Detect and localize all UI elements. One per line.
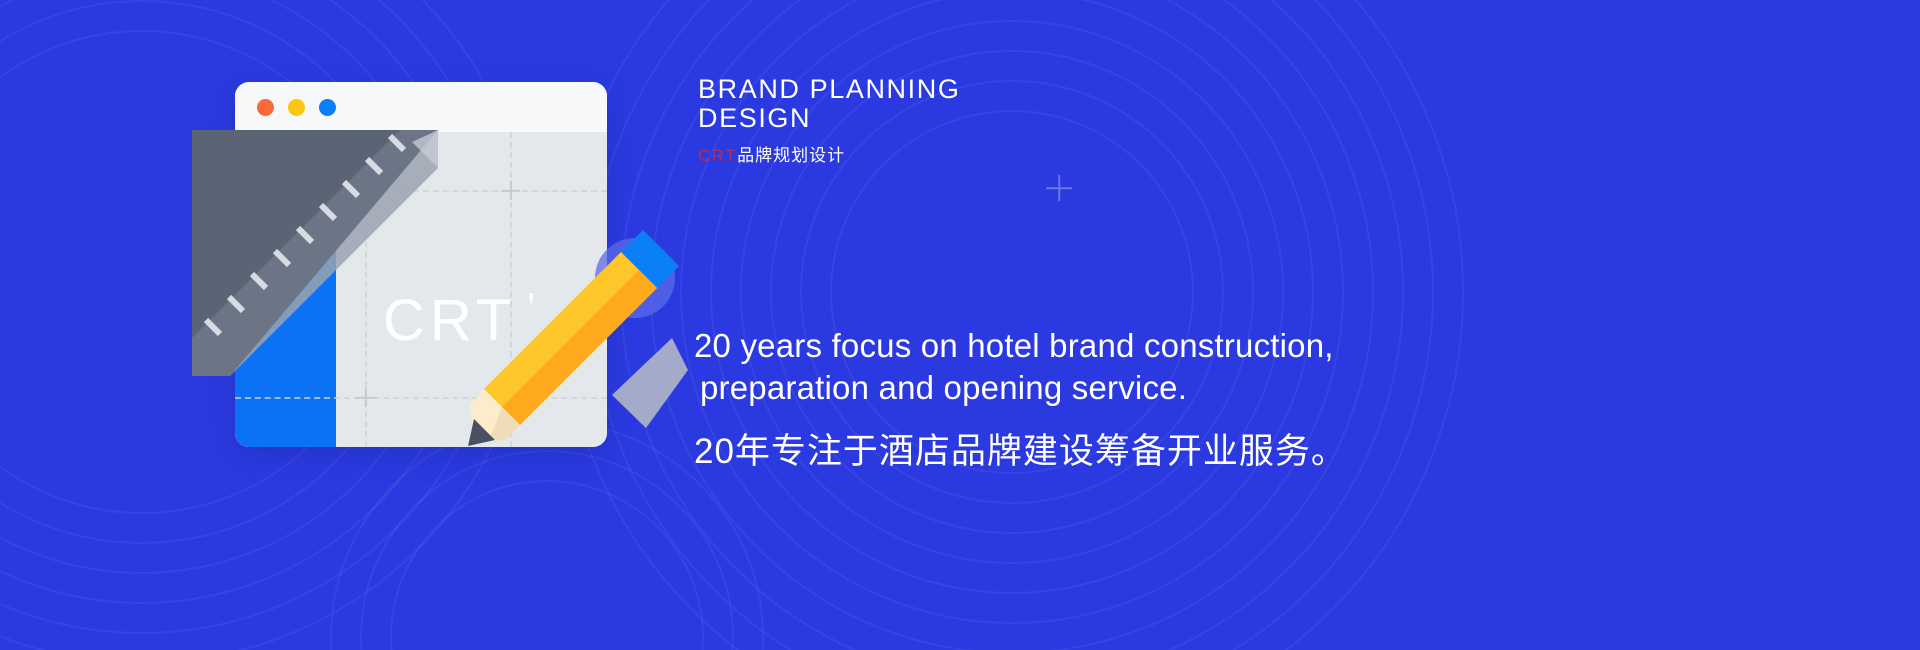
eyebrow-subtitle-cn-text: 品牌规划设计 bbox=[737, 146, 845, 165]
triangle-ruler-icon bbox=[190, 128, 450, 388]
headline-en-line-2: preparation and opening service. bbox=[694, 367, 1834, 409]
guide-crosshair bbox=[356, 388, 375, 407]
window-minimize-dot-icon bbox=[288, 99, 305, 116]
headline-en-line-1: 20 years focus on hotel brand constructi… bbox=[694, 325, 1834, 367]
guide-crosshair bbox=[501, 181, 520, 200]
brand-banner: CRT＇ bbox=[0, 0, 1920, 650]
eyebrow-subtitle-cn: CRT品牌规划设计 bbox=[698, 141, 1218, 166]
headline-cn: 20年专注于酒店品牌建设筹备开业服务。 bbox=[694, 423, 1834, 474]
window-maximize-dot-icon bbox=[319, 99, 336, 116]
crosshair-marker bbox=[1046, 175, 1072, 201]
brand-name-crt: CRT bbox=[698, 146, 737, 165]
window-close-dot-icon bbox=[257, 99, 274, 116]
pencil-icon bbox=[460, 220, 690, 450]
eyebrow-line-1: BRAND PLANNING bbox=[698, 75, 1218, 104]
window-titlebar bbox=[235, 82, 607, 132]
headline-block: 20 years focus on hotel brand constructi… bbox=[694, 325, 1834, 474]
hero-illustration: CRT＇ bbox=[190, 60, 690, 530]
eyebrow-heading-block: BRAND PLANNING DESIGN CRT品牌规划设计 bbox=[698, 75, 1218, 166]
eyebrow-line-2: DESIGN bbox=[698, 104, 1218, 133]
